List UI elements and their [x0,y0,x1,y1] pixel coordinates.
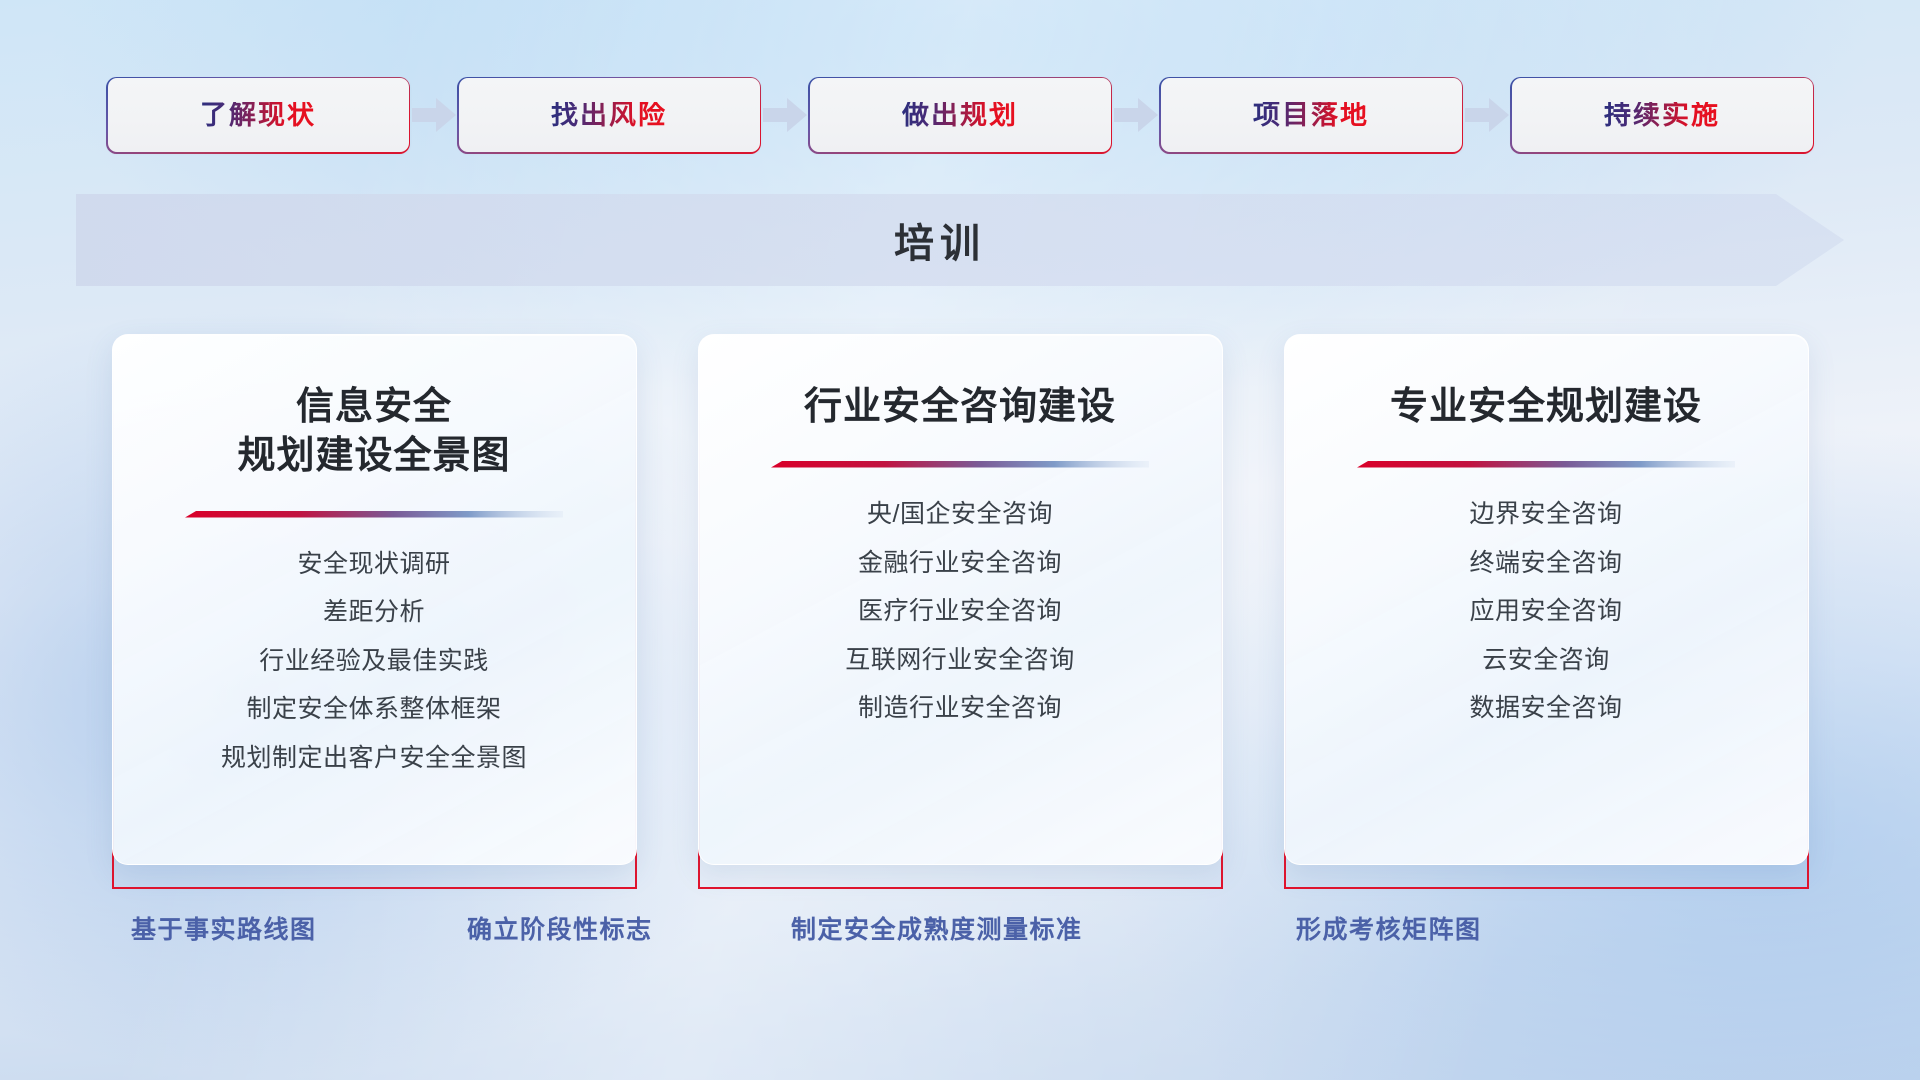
card-accent-rail-bottom [1284,887,1809,889]
list-item: 云安全咨询 [1482,642,1610,680]
gradient-divider-icon [771,458,1149,472]
caption-row: 基于事实路线图 确立阶段性标志 制定安全成熟度测量标准 形成考核矩阵图 [0,910,1920,956]
list-item: 制定安全体系整体框架 [246,691,501,729]
list-item: 互联网行业安全咨询 [845,642,1075,680]
list-item: 行业经验及最佳实践 [259,643,489,681]
list-item: 边界安全咨询 [1469,496,1622,534]
step-label: 了解现状 [200,102,316,129]
step-label: 做出规划 [902,102,1018,129]
step-label: 持续实施 [1604,102,1720,129]
step-box-3[interactable]: 做出规划 [810,78,1111,152]
list-item: 数据安全咨询 [1469,690,1622,728]
list-item: 规划制定出客户安全全景图 [221,740,527,778]
card-wrapper-2: 行业安全咨询建设 [698,334,1223,865]
step-box-5[interactable]: 持续实施 [1512,78,1813,152]
card-accent-rail-bottom [698,887,1223,889]
card-2[interactable]: 行业安全咨询建设 [698,334,1223,865]
list-item: 制造行业安全咨询 [858,690,1062,728]
card-item-list: 边界安全咨询 终端安全咨询 应用安全咨询 云安全咨询 数据安全咨询 [1469,496,1622,728]
step-label: 项目落地 [1253,102,1369,129]
card-title: 信息安全 规划建设全景图 [237,383,510,482]
chevron-right-arrow-icon [1111,78,1161,152]
card-title: 专业安全规划建设 [1390,383,1702,432]
caption-2: 确立阶段性标志 [467,910,653,946]
card-wrapper-1: 信息安全 规划建设全景图 [112,334,637,865]
caption-1: 基于事实路线图 [131,910,317,946]
list-item: 央/国企安全咨询 [867,496,1053,534]
training-banner: 培训 [76,194,1844,286]
list-item: 应用安全咨询 [1469,593,1622,631]
step-flow: 了解现状 找出风险 做出规划 项目落地 持续实施 [0,78,1920,152]
chevron-right-arrow-icon [1462,78,1512,152]
gradient-divider-icon [185,508,563,522]
caption-4: 形成考核矩阵图 [1296,910,1482,946]
card-row: 信息安全 规划建设全景图 [0,334,1920,865]
step-box-2[interactable]: 找出风险 [459,78,760,152]
slide-canvas: 了解现状 找出风险 做出规划 项目落地 持续实施 [0,0,1920,1080]
step-box-4[interactable]: 项目落地 [1161,78,1462,152]
card-accent-rail-bottom [112,887,637,889]
list-item: 医疗行业安全咨询 [858,593,1062,631]
card-1[interactable]: 信息安全 规划建设全景图 [112,334,637,865]
gradient-divider-icon [1357,458,1735,472]
list-item: 终端安全咨询 [1469,545,1622,583]
card-item-list: 安全现状调研 差距分析 行业经验及最佳实践 制定安全体系整体框架 规划制定出客户… [221,546,527,778]
step-box-1[interactable]: 了解现状 [108,78,409,152]
chevron-right-arrow-icon [760,78,810,152]
step-label: 找出风险 [551,102,667,129]
card-title: 行业安全咨询建设 [804,383,1116,432]
list-item: 金融行业安全咨询 [858,545,1062,583]
caption-3: 制定安全成熟度测量标准 [791,910,1083,946]
training-banner-label: 培训 [76,194,1844,286]
list-item: 差距分析 [323,594,425,632]
card-item-list: 央/国企安全咨询 金融行业安全咨询 医疗行业安全咨询 互联网行业安全咨询 制造行… [845,496,1075,728]
chevron-right-arrow-icon [409,78,459,152]
list-item: 安全现状调研 [297,546,450,584]
card-wrapper-3: 专业安全规划建设 [1284,334,1809,865]
card-3[interactable]: 专业安全规划建设 [1284,334,1809,865]
